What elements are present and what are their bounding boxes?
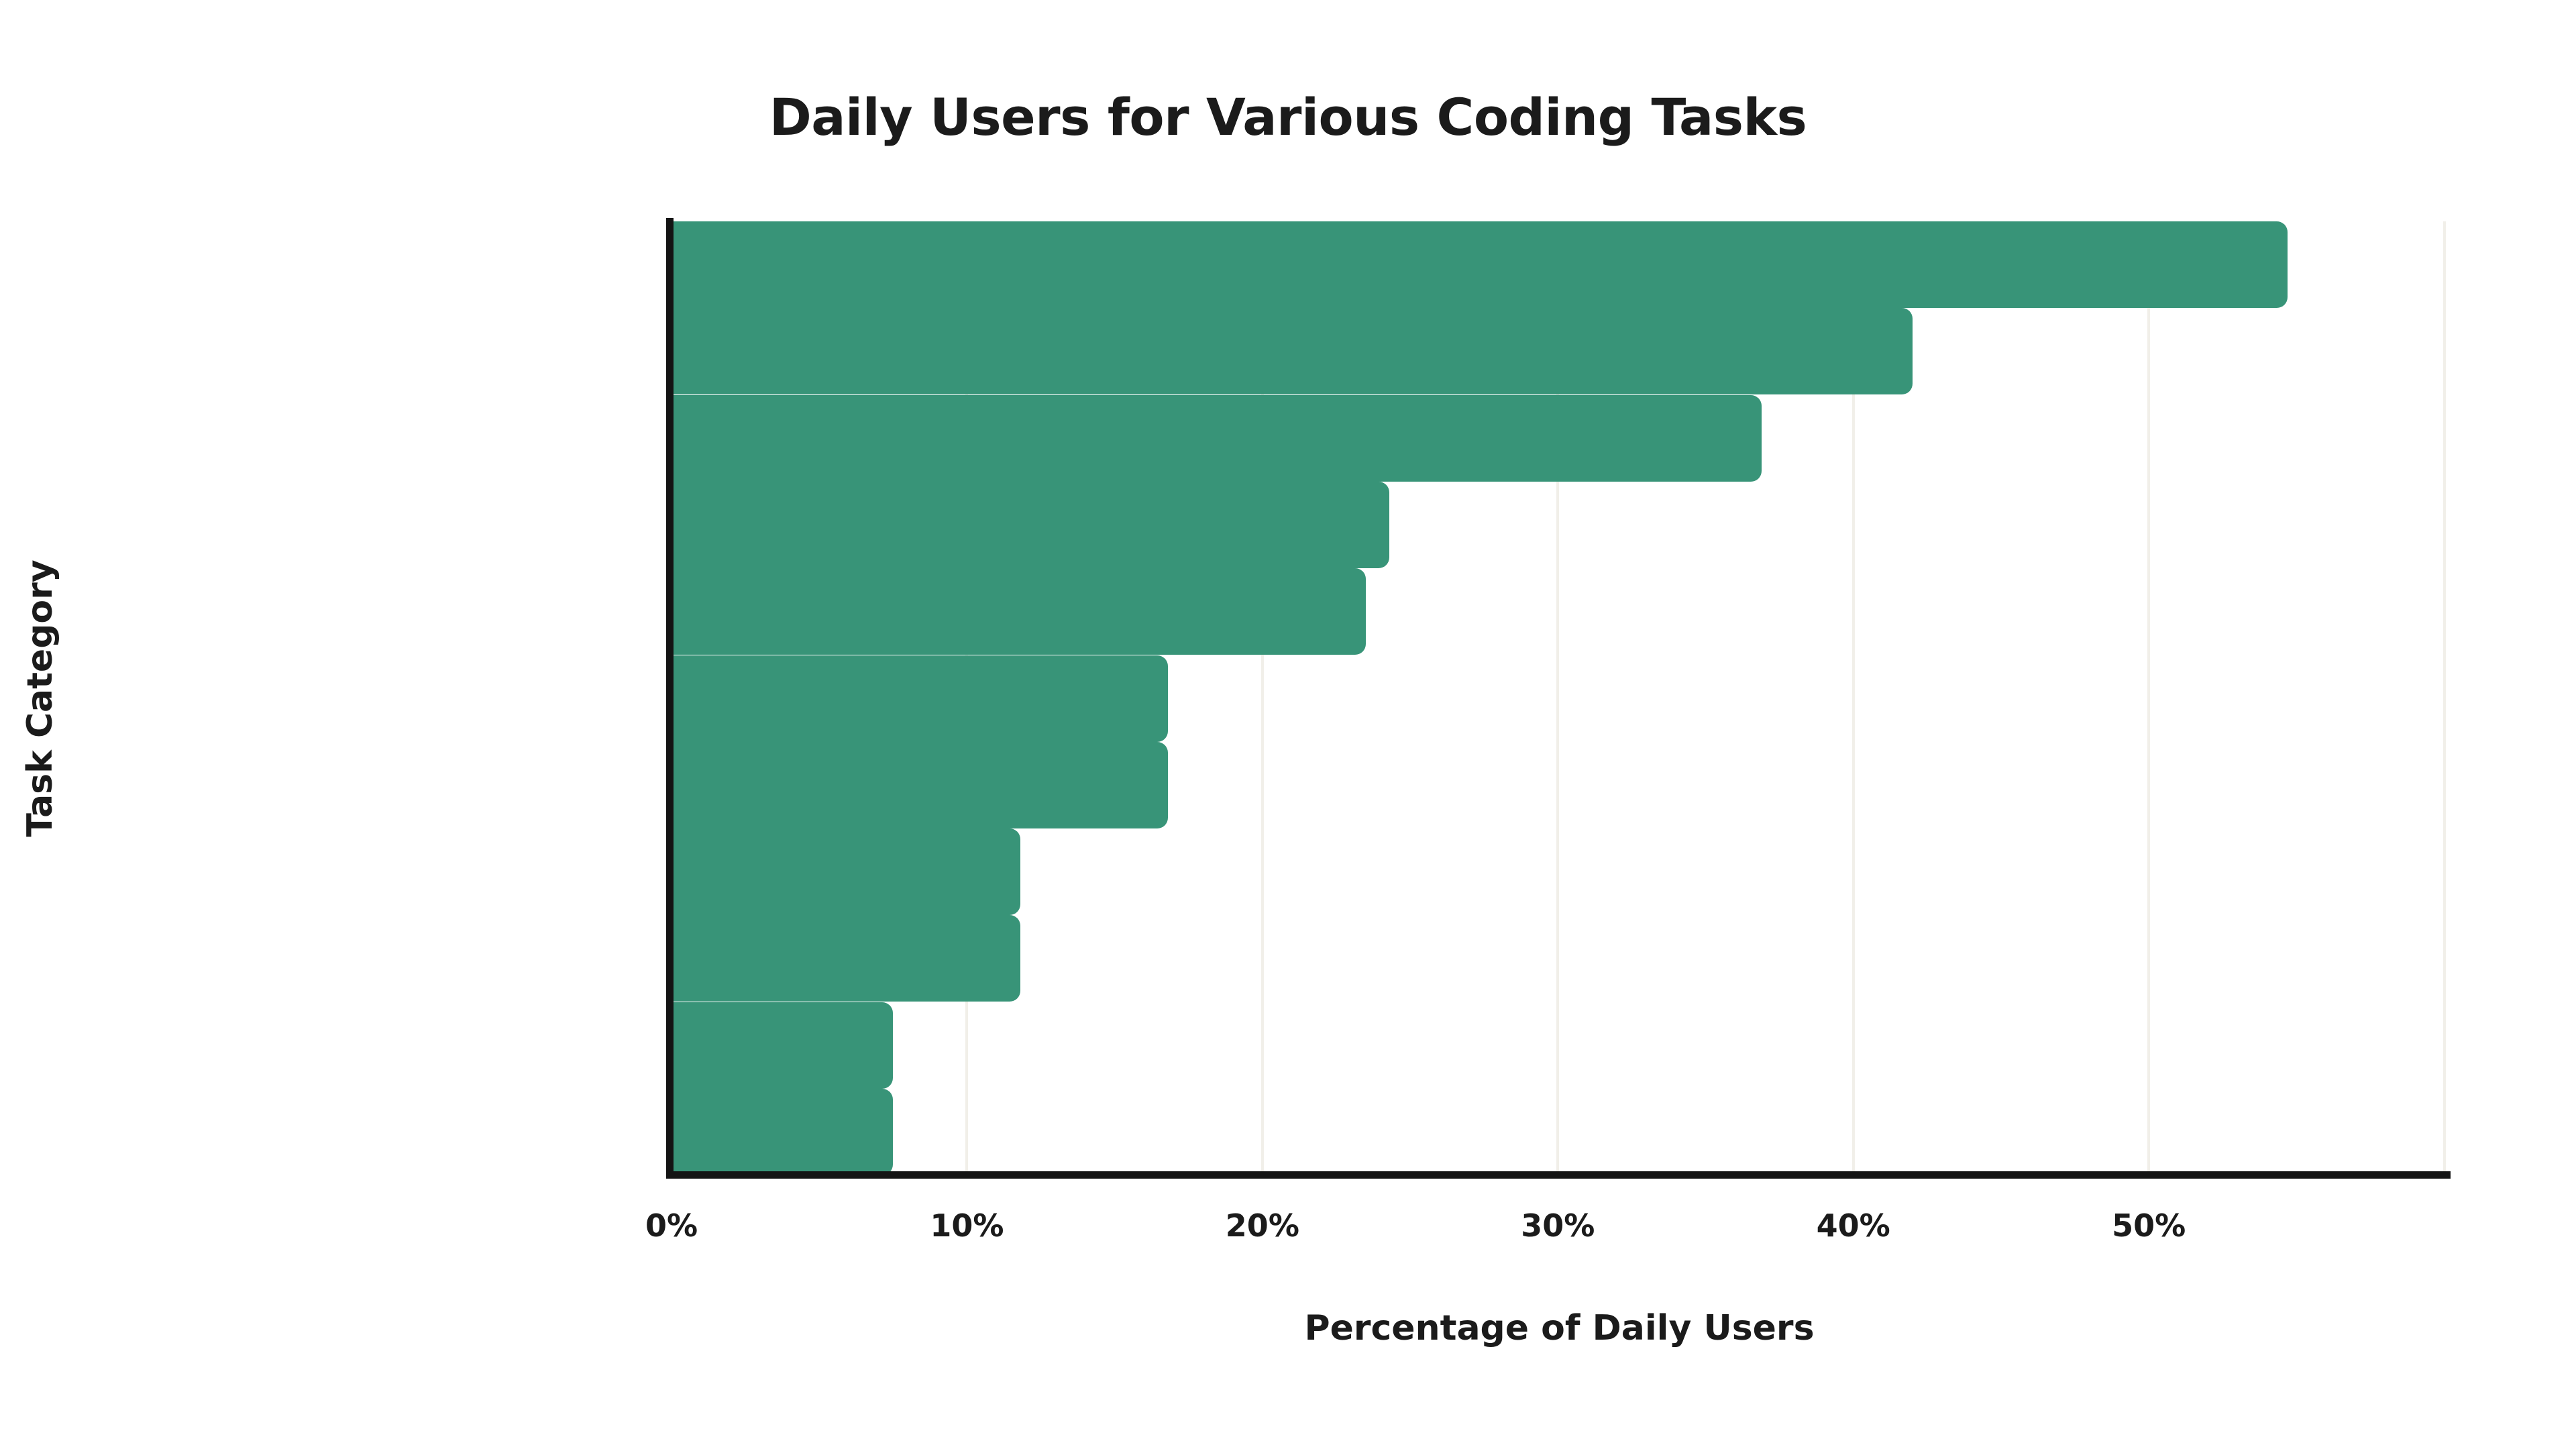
bar[interactable] [672, 915, 1020, 1002]
bar[interactable] [672, 1089, 893, 1175]
bar[interactable] [672, 1002, 893, 1089]
x-axis-tick-label: 40% [1817, 1207, 1890, 1244]
bar-row[interactable] [672, 1002, 2447, 1089]
x-axis-tick-label: 50% [2112, 1207, 2186, 1244]
x-axis-tick-label: 30% [1521, 1207, 1595, 1244]
bar-row[interactable] [672, 828, 2447, 915]
x-axis-spine [666, 1171, 2451, 1179]
x-axis-tick-label: 0% [645, 1207, 698, 1244]
bar[interactable] [672, 655, 1168, 742]
chart-figure: Daily Users for Various Coding Tasks Deb… [0, 0, 2576, 1449]
bar[interactable] [672, 221, 2288, 308]
x-axis-tick-label: 20% [1226, 1207, 1299, 1244]
bar-row[interactable] [672, 221, 2447, 308]
y-axis-spine [666, 218, 674, 1179]
bar-row[interactable] [672, 395, 2447, 482]
bar-row[interactable] [672, 655, 2447, 742]
y-axis-title: Task Category [20, 559, 60, 837]
bar-row[interactable] [672, 915, 2447, 1002]
bar[interactable] [672, 395, 1762, 482]
x-axis-tick-label: 10% [930, 1207, 1004, 1244]
x-axis-title: Percentage of Daily Users [672, 1308, 2447, 1348]
bar-row[interactable] [672, 568, 2447, 655]
plot-area [672, 221, 2447, 1175]
chart-title: Daily Users for Various Coding Tasks [0, 87, 2576, 147]
bar[interactable] [672, 742, 1168, 828]
bar-row[interactable] [672, 1089, 2447, 1175]
bar-row[interactable] [672, 742, 2447, 828]
bar-row[interactable] [672, 308, 2447, 394]
bar-row[interactable] [672, 482, 2447, 568]
bar[interactable] [672, 828, 1020, 915]
bar[interactable] [672, 308, 1913, 394]
bar[interactable] [672, 482, 1389, 568]
bar[interactable] [672, 568, 1366, 655]
